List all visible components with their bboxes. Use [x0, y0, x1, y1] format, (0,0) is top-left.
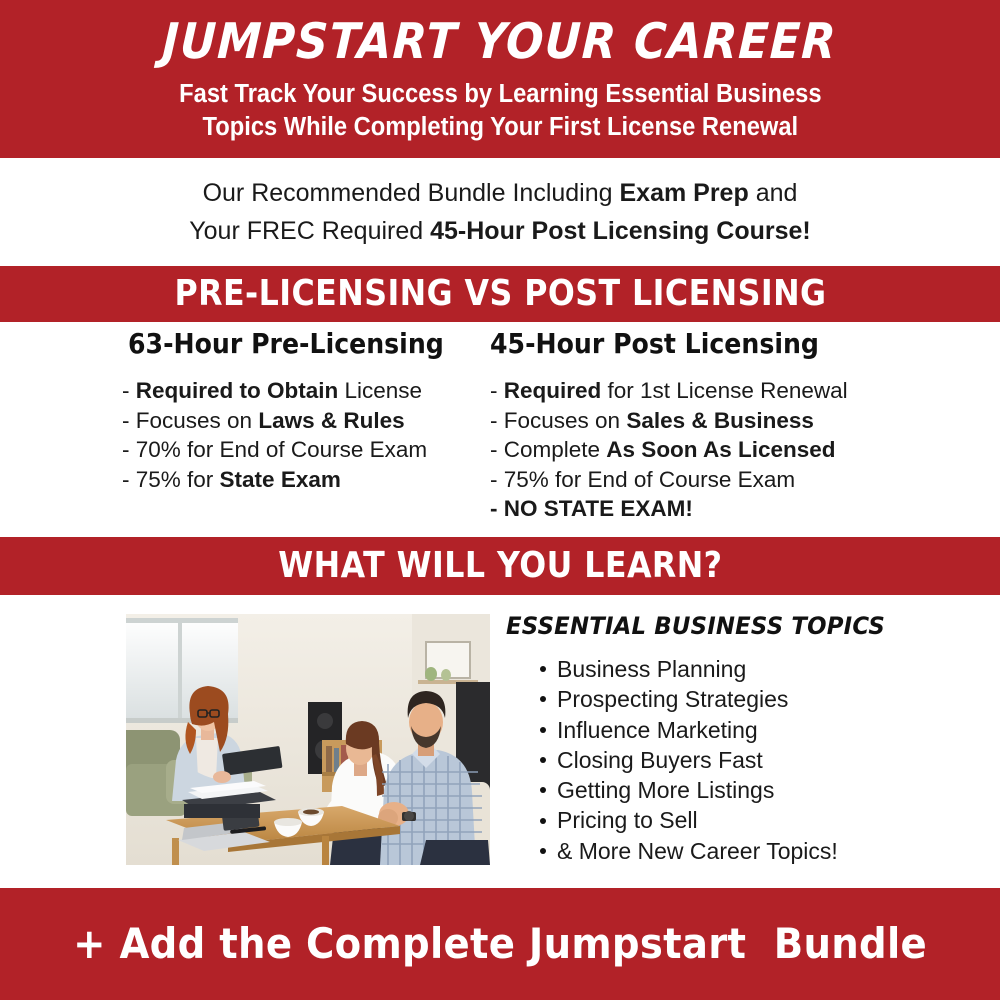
intro-line-1-post: and	[749, 179, 798, 207]
list-item: Prospecting Strategies	[540, 684, 976, 714]
hero-banner: JUMPSTART YOUR CAREER Fast Track Your Su…	[0, 0, 1000, 158]
item-dash: -	[490, 437, 504, 462]
list-item-label: Business Planning	[557, 656, 746, 682]
pre-licensing-item: - Focuses on Laws & Rules	[122, 406, 480, 436]
item-post: for 1st License Renewal	[601, 378, 847, 403]
item-pre: Focuses on	[136, 408, 259, 433]
list-item: Influence Marketing	[540, 715, 976, 745]
item-dash: -	[490, 496, 504, 521]
intro-line-2: Your FREC Required 45-Hour Post Licensin…	[189, 212, 810, 250]
pre-licensing-column: 63-Hour Pre-Licensing - Required to Obta…	[0, 330, 480, 530]
item-dash: -	[490, 408, 504, 433]
list-item-label: Closing Buyers Fast	[557, 747, 763, 773]
bullet-icon	[540, 818, 546, 824]
hero-subtitle: Fast Track Your Success by Learning Esse…	[155, 78, 846, 144]
intro-section: Our Recommended Bundle Including Exam Pr…	[0, 158, 1000, 266]
post-licensing-column: 45-Hour Post Licensing - Required for 1s…	[480, 330, 1000, 530]
bullet-icon	[540, 696, 546, 702]
list-item: Pricing to Sell	[540, 805, 976, 835]
list-item-label: Influence Marketing	[557, 717, 758, 743]
comparison-section: 63-Hour Pre-Licensing - Required to Obta…	[0, 330, 1000, 530]
item-dash: -	[490, 378, 504, 403]
bullet-icon	[540, 666, 546, 672]
list-item-label: Pricing to Sell	[557, 807, 698, 833]
list-item-label: Getting More Listings	[557, 777, 774, 803]
promo-graphic: JUMPSTART YOUR CAREER Fast Track Your Su…	[0, 0, 1000, 1000]
list-item: & More New Career Topics!	[540, 836, 976, 866]
item-pre: 75% for	[136, 467, 220, 492]
post-licensing-item: - NO STATE EXAM!	[490, 494, 1000, 524]
add-bundle-cta-label: + Add the Complete Jumpstart Bundle	[73, 923, 927, 965]
item-dash: -	[490, 467, 504, 492]
item-dash: -	[122, 437, 136, 462]
item-pre: Focuses on	[504, 408, 627, 433]
post-licensing-heading: 45-Hour Post Licensing	[490, 330, 949, 358]
list-item: Closing Buyers Fast	[540, 745, 976, 775]
topics-heading: ESSENTIAL BUSINESS TOPICS	[506, 614, 953, 638]
add-bundle-cta[interactable]: + Add the Complete Jumpstart Bundle	[0, 888, 1000, 1000]
bullet-icon	[540, 848, 546, 854]
item-dash: -	[122, 378, 136, 403]
bullet-icon	[540, 757, 546, 763]
learn-banner-label: WHAT WILL YOU LEARN?	[278, 548, 722, 584]
comparison-banner: PRE-LICENSING VS POST LICENSING	[0, 266, 1000, 322]
topics-list: Business Planning Prospecting Strategies…	[506, 654, 976, 866]
post-licensing-item: - Focuses on Sales & Business	[490, 406, 1000, 436]
item-pre: Complete	[504, 437, 607, 462]
pre-licensing-heading: 63-Hour Pre-Licensing	[128, 330, 445, 358]
pre-licensing-item: - Required to Obtain License	[122, 376, 480, 406]
intro-line-1-bold: Exam Prep	[620, 179, 749, 207]
hero-subtitle-line-1: Fast Track Your Success by Learning Esse…	[179, 78, 821, 111]
topics-section: ESSENTIAL BUSINESS TOPICS Business Plann…	[506, 614, 976, 866]
item-bold: As Soon As Licensed	[606, 437, 835, 462]
list-item: Business Planning	[540, 654, 976, 684]
page-title: JUMPSTART YOUR CAREER	[162, 17, 839, 66]
item-post: License	[338, 378, 422, 403]
meeting-photo	[126, 614, 490, 865]
item-pre: 75% for End of Course Exam	[504, 467, 795, 492]
post-licensing-item: - Required for 1st License Renewal	[490, 376, 1000, 406]
item-pre: 70% for End of Course Exam	[136, 437, 427, 462]
item-dash: -	[122, 408, 136, 433]
bullet-icon	[540, 787, 546, 793]
list-item: Getting More Listings	[540, 775, 976, 805]
post-licensing-item: - Complete As Soon As Licensed	[490, 435, 1000, 465]
intro-line-1-pre: Our Recommended Bundle Including	[203, 179, 620, 207]
item-dash: -	[122, 467, 136, 492]
intro-line-1: Our Recommended Bundle Including Exam Pr…	[203, 174, 798, 212]
item-bold: Required	[504, 378, 602, 403]
pre-licensing-item: - 70% for End of Course Exam	[122, 435, 480, 465]
item-bold: Sales & Business	[626, 408, 814, 433]
item-bold: NO STATE EXAM!	[504, 496, 693, 521]
post-licensing-item: - 75% for End of Course Exam	[490, 465, 1000, 495]
item-bold: Required to Obtain	[136, 378, 339, 403]
comparison-banner-label: PRE-LICENSING VS POST LICENSING	[174, 276, 826, 312]
list-item-label: & More New Career Topics!	[557, 838, 838, 864]
list-item-label: Prospecting Strategies	[557, 686, 788, 712]
item-bold: Laws & Rules	[258, 408, 404, 433]
learn-banner: WHAT WILL YOU LEARN?	[0, 537, 1000, 595]
pre-licensing-item: - 75% for State Exam	[122, 465, 480, 495]
bullet-icon	[540, 727, 546, 733]
intro-line-2-bold: 45-Hour Post Licensing Course!	[430, 217, 811, 245]
intro-line-2-pre: Your FREC Required	[189, 217, 430, 245]
hero-subtitle-line-2: Topics While Completing Your First Licen…	[179, 111, 821, 144]
item-bold: State Exam	[220, 467, 341, 492]
